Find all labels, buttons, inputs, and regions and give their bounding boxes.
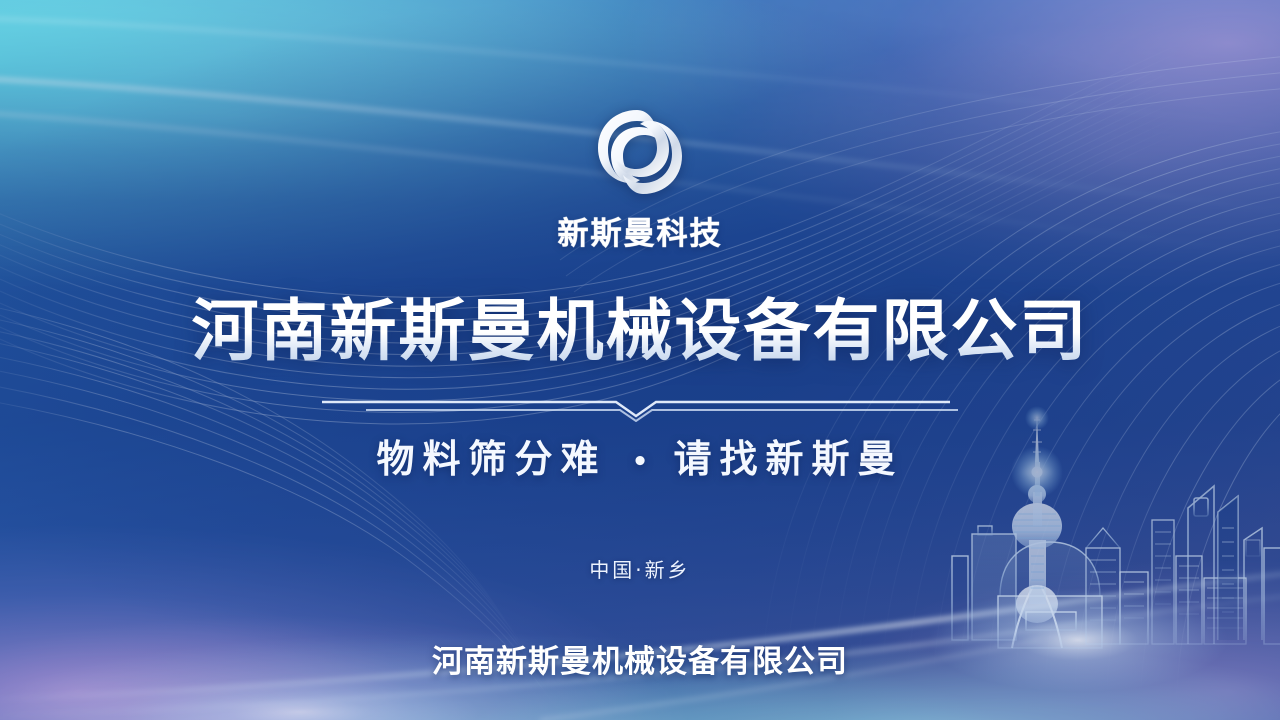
chevron-divider-icon: [320, 392, 960, 422]
location-label: 中国·新乡: [0, 554, 1280, 583]
slogan-left: 物料筛分难: [376, 437, 606, 481]
swirl-s-logo-icon: [587, 104, 693, 200]
slogan-separator-dot: •: [628, 447, 653, 477]
page-title: 河南新斯曼机械设备有限公司: [0, 296, 1280, 366]
slide-content: 新斯曼科技 河南新斯曼机械设备有限公司 物料筛分难 • 请找新斯曼 中国·新乡 …: [0, 0, 1280, 720]
brand-wordmark: 新斯曼科技: [558, 208, 723, 253]
slogan-right: 请找新斯曼: [674, 437, 904, 481]
chevron-divider: [0, 392, 1280, 422]
footer-company-name: 河南新斯曼机械设备有限公司: [0, 636, 1280, 681]
slide-canvas: 新斯曼科技 河南新斯曼机械设备有限公司 物料筛分难 • 请找新斯曼 中国·新乡 …: [0, 0, 1280, 720]
brand-logo-block: 新斯曼科技: [0, 104, 1280, 253]
slogan: 物料筛分难 • 请找新斯曼: [0, 428, 1280, 483]
